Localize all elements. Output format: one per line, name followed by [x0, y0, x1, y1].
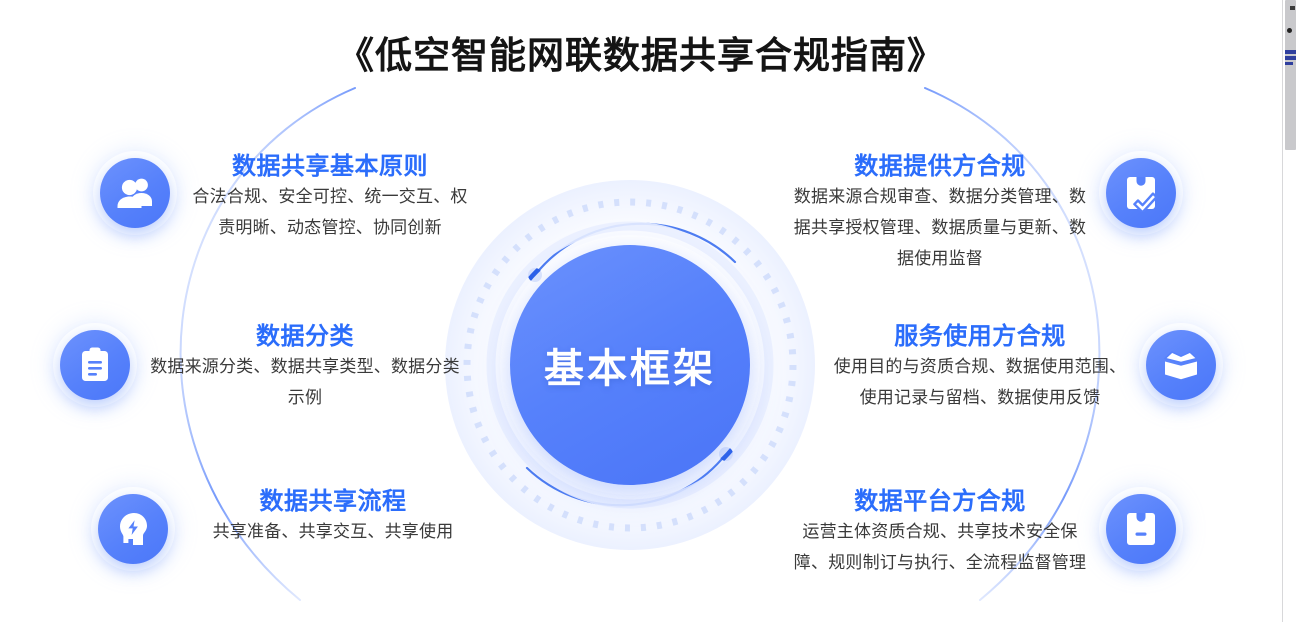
head-lightning-icon [98, 494, 168, 564]
item-heading: 数据共享流程 [183, 485, 483, 517]
item-text-block: 数据共享基本原则 合法合规、安全可控、统一交互、权责明晰、动态管控、协同创新 [185, 150, 475, 244]
open-box-icon [1146, 330, 1216, 400]
item-text-block: 服务使用方合规 使用目的与资质合规、数据使用范围、使用记录与留档、数据使用反馈 [830, 320, 1130, 414]
clipboard-icon [60, 330, 130, 400]
item-description: 共享准备、共享交互、共享使用 [183, 517, 483, 548]
document-dash-icon [1106, 494, 1176, 564]
item-text-block: 数据平台方合规 运营主体资质合规、共享技术安全保障、规则制订与执行、全流程监督管… [790, 485, 1090, 579]
two-users-icon [100, 158, 170, 228]
item-heading: 服务使用方合规 [830, 320, 1130, 352]
document-check-icon [1106, 158, 1176, 228]
center-label: 基本框架 [544, 336, 716, 394]
center-hub: 基本框架 [510, 245, 750, 485]
page-title: 《低空智能网联数据共享合规指南》 [0, 33, 1282, 79]
item-heading: 数据分类 [145, 320, 465, 352]
item-heading: 数据提供方合规 [790, 150, 1090, 182]
scrollbar-marks [1284, 4, 1296, 64]
item-text-block: 数据共享流程 共享准备、共享交互、共享使用 [183, 485, 483, 548]
item-description: 运营主体资质合规、共享技术安全保障、规则制订与执行、全流程监督管理 [790, 517, 1090, 579]
item-heading: 数据平台方合规 [790, 485, 1090, 517]
vertical-scrollbar[interactable] [1282, 0, 1296, 622]
item-description: 数据来源合规审查、数据分类管理、数据共享授权管理、数据质量与更新、数据使用监督 [790, 182, 1090, 275]
item-text-block: 数据分类 数据来源分类、数据共享类型、数据分类示例 [145, 320, 465, 414]
item-description: 使用目的与资质合规、数据使用范围、使用记录与留档、数据使用反馈 [830, 352, 1130, 414]
item-heading: 数据共享基本原则 [185, 150, 475, 182]
item-text-block: 数据提供方合规 数据来源合规审查、数据分类管理、数据共享授权管理、数据质量与更新… [790, 150, 1090, 275]
item-description: 数据来源分类、数据共享类型、数据分类示例 [145, 352, 465, 414]
infographic-canvas: 《低空智能网联数据共享合规指南》 [0, 0, 1282, 622]
center-circle: 基本框架 [510, 245, 750, 485]
item-description: 合法合规、安全可控、统一交互、权责明晰、动态管控、协同创新 [185, 182, 475, 244]
